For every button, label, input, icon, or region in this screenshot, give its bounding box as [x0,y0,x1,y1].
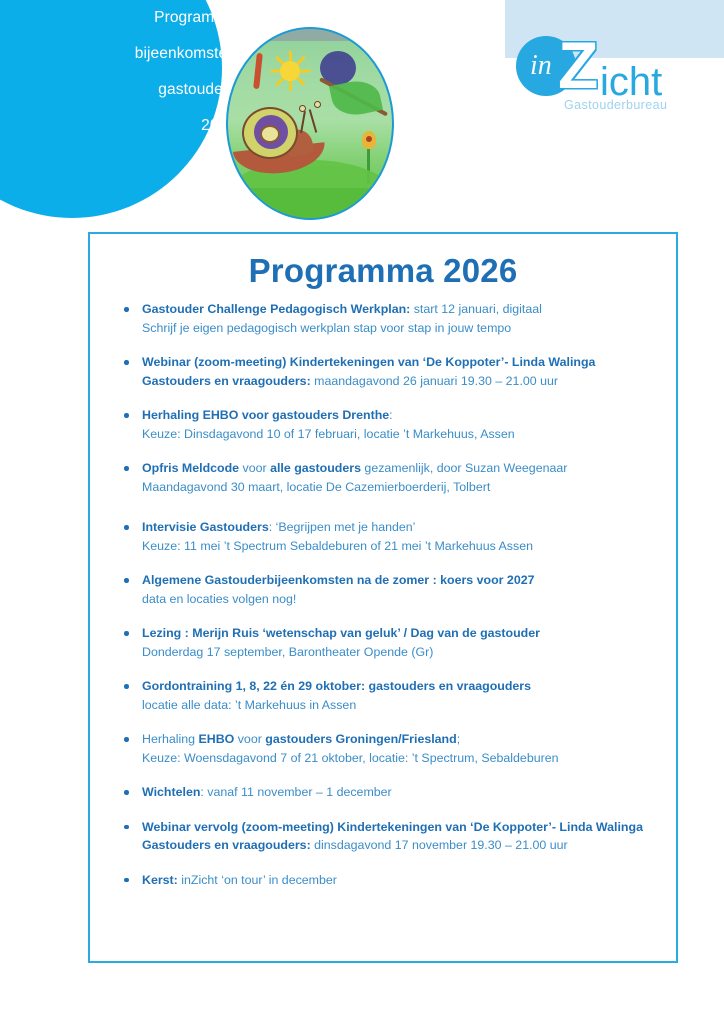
item-detail-2: ; [457,732,460,746]
item-detail: : ‘Begrijpen met je handen’ [269,520,416,534]
list-item: Webinar vervolg (zoom-meeting) Kindertek… [124,818,662,855]
item-title: Herhaling EHBO voor gastouders Drenthe [142,408,389,422]
drawing-sky [228,29,392,41]
list-item: Gastouder Challenge Pedagogisch Werkplan… [124,300,662,337]
item-detail: voor [239,461,270,475]
item-detail: : vanaf 11 november – 1 december [200,785,391,799]
header-title-line-3: gastouders [96,72,236,108]
drawing-grass-foreground [228,188,392,218]
list-item: Wichtelen: vanaf 11 november – 1 decembe… [124,783,662,802]
header-title-line-1: Programma [96,0,236,36]
programme-list: Gastouder Challenge Pedagogisch Werkplan… [90,300,676,889]
item-subline: Keuze: Woensdagavond 7 of 21 oktober, lo… [142,751,559,765]
list-item: Gordontraining 1, 8, 22 én 29 oktober: g… [124,677,662,714]
drawing-flower-center [366,136,372,142]
item-subline: Maandagavond 30 maart, locatie De Cazemi… [142,480,490,494]
header-title-line-4: 2026 [96,108,236,144]
drawing-sun [280,61,300,81]
item-subtitle: Gastouders en vraagouders: [142,838,311,852]
item-subline: locatie alle data: ’t Markehuus in Assen [142,698,356,712]
item-title: Kerst: [142,873,178,887]
item-detail: start 12 januari, digitaal [410,302,542,316]
item-detail: dinsdagavond 17 november 19.30 – 21.00 u… [311,838,568,852]
item-detail: voor [234,732,265,746]
item-detail: inZicht ‘on tour’ in december [178,873,337,887]
logo-text-z: Z [558,32,598,98]
list-item: Opfris Meldcode voor alle gastouders gez… [124,459,662,496]
header-title-line-2: bijeenkomsten [96,36,236,72]
drawing-red-stick [253,53,263,89]
document-page: Programma bijeenkomsten gastouders 2026 [0,0,724,1024]
item-subline: data en locaties volgen nog! [142,592,296,606]
list-item: Herhaling EHBO voor gastouders Drenthe: … [124,406,662,443]
logo-text-icht: icht [600,62,662,102]
item-subline: Schrijf je eigen pedagogisch werkplan st… [142,321,511,335]
page-title: Programma 2026 [90,252,676,290]
item-prefix: Herhaling [142,732,198,746]
child-drawing-illustration [226,27,394,220]
logo-text-in: in [530,50,552,82]
item-detail-2: gezamenlijk, door Suzan Weegenaar [361,461,567,475]
item-title: Gordontraining 1, 8, 22 én 29 oktober: g… [142,679,531,693]
item-subtitle: Gastouders en vraagouders: [142,374,311,388]
inzicht-logo: in Z icht Gastouderbureau [516,36,676,122]
item-title: Wichtelen [142,785,200,799]
item-subline: Donderdag 17 september, Barontheater Ope… [142,645,433,659]
item-detail: maandagavond 26 januari 19.30 – 21.00 uu… [311,374,558,388]
list-item: Webinar (zoom-meeting) Kindertekeningen … [124,353,662,390]
item-title: Opfris Meldcode [142,461,239,475]
list-item: Kerst: inZicht ‘on tour’ in december [124,871,662,890]
item-title: Lezing : Merijn Ruis ‘wetenschap van gel… [142,626,540,640]
list-item: Intervisie Gastouders: ‘Begrijpen met je… [124,518,662,555]
header-title-block: Programma bijeenkomsten gastouders 2026 [96,0,236,144]
list-item: Herhaling EHBO voor gastouders Groningen… [124,730,662,767]
list-item: Lezing : Merijn Ruis ‘wetenschap van gel… [124,624,662,661]
drawing-snail-antenna [309,109,318,133]
item-subline: Keuze: Dinsdagavond 10 of 17 februari, l… [142,427,515,441]
item-title-2: gastouders Groningen/Friesland [265,732,456,746]
drawing-snail-shell-core [260,125,280,143]
list-item: Algemene Gastouderbijeenkomsten na de zo… [124,571,662,608]
item-title: EHBO [198,732,234,746]
item-title: Webinar (zoom-meeting) Kindertekeningen … [142,355,595,369]
item-title: Gastouder Challenge Pedagogisch Werkplan… [142,302,410,316]
item-detail: : [389,408,392,422]
drawing-snail-antenna-tip [314,101,321,108]
programme-box: Programma 2026 Gastouder Challenge Pedag… [88,232,678,963]
logo-subtitle: Gastouderbureau [564,98,667,112]
item-title: Algemene Gastouderbijeenkomsten na de zo… [142,573,535,587]
item-title-2: alle gastouders [270,461,361,475]
item-subline: Keuze: 11 mei ’t Spectrum Sebaldeburen o… [142,539,533,553]
drawing-snail-antenna-tip [299,105,306,112]
item-title: Webinar vervolg (zoom-meeting) Kindertek… [142,820,643,834]
item-title: Intervisie Gastouders [142,520,269,534]
